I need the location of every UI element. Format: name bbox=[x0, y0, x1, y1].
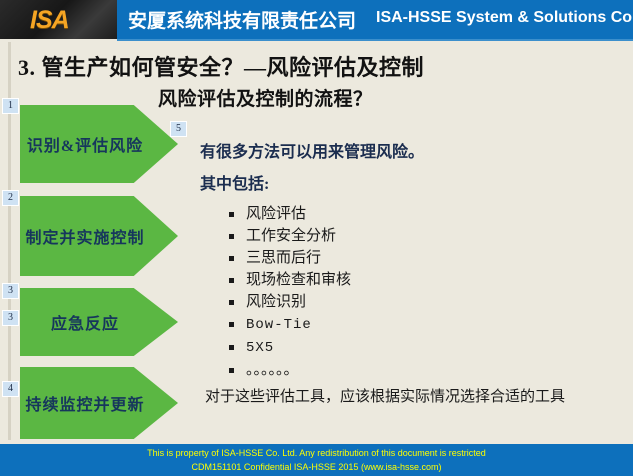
list-item: Bow-Tie bbox=[228, 315, 351, 335]
square-bullet-icon bbox=[229, 322, 234, 327]
process-step-4-label: 持续监控并更新 bbox=[25, 391, 144, 415]
isa-logo-text: ISA bbox=[30, 6, 69, 35]
header-title-english: ISA-HSSE System & Solutions Co. LTD bbox=[376, 9, 633, 27]
footer-copyright-line: This is property of ISA-HSSE Co. Ltd. An… bbox=[0, 448, 633, 458]
footer-confidential-line: CDM151101 Confidential ISA-HSSE 2015 (ww… bbox=[0, 462, 633, 472]
list-item-label: Bow-Tie bbox=[246, 317, 312, 333]
list-item: 。。。。。。 bbox=[228, 361, 351, 380]
list-item: 三思而后行 bbox=[228, 249, 351, 268]
process-step-2-label: 制定并实施控制 bbox=[25, 224, 144, 248]
list-item: 风险识别 bbox=[228, 293, 351, 312]
header-title-chinese: 安厦系统科技有限责任公司 bbox=[128, 6, 356, 33]
list-item-label: 。。。。。。 bbox=[246, 362, 299, 378]
placeholder-marker-3[interactable]: 3 bbox=[2, 283, 19, 299]
placeholder-marker-5[interactable]: 5 bbox=[170, 121, 187, 137]
list-item: 工作安全分析 bbox=[228, 227, 351, 246]
square-bullet-icon bbox=[229, 212, 234, 217]
body-intro-line: 有很多方法可以用来管理风险。 bbox=[200, 138, 424, 162]
list-item: 现场检查和审核 bbox=[228, 271, 351, 290]
process-step-3-label: 应急反应 bbox=[51, 310, 119, 334]
placeholder-marker-4[interactable]: 4 bbox=[2, 381, 19, 397]
closing-paragraph: 对于这些评估工具，应该根据实际情况选择合适的工具 bbox=[205, 386, 629, 408]
page-subtitle: 风险评估及控制的流程？ bbox=[158, 84, 373, 111]
placeholder-marker-2[interactable]: 2 bbox=[2, 190, 19, 206]
list-item-label: 5X5 bbox=[246, 340, 274, 356]
process-step-3[interactable]: 应急反应 bbox=[20, 288, 178, 356]
page-title: 3. 管生产如何管安全？—风险评估及控制 bbox=[18, 50, 424, 82]
process-step-2[interactable]: 制定并实施控制 bbox=[20, 196, 178, 276]
square-bullet-icon bbox=[229, 278, 234, 283]
slide-footer: This is property of ISA-HSSE Co. Ltd. An… bbox=[0, 444, 633, 476]
placeholder-marker-1[interactable]: 1 bbox=[2, 98, 19, 114]
square-bullet-icon bbox=[229, 234, 234, 239]
process-step-1-label: 识别&评估风险 bbox=[27, 132, 143, 156]
body-includes-label: 其中包括: bbox=[200, 170, 269, 194]
company-logo: ISA bbox=[0, 0, 117, 39]
list-item: 5X5 bbox=[228, 338, 351, 358]
process-step-4[interactable]: 持续监控并更新 bbox=[20, 367, 178, 439]
list-item-label: 三思而后行 bbox=[246, 250, 321, 266]
list-item-label: 现场检查和审核 bbox=[246, 272, 351, 288]
list-item-label: 工作安全分析 bbox=[246, 228, 336, 244]
method-bullet-list: 风险评估 工作安全分析 三思而后行 现场检查和审核 风险识别 Bow-Tie 5… bbox=[228, 205, 351, 383]
process-step-1[interactable]: 识别&评估风险 bbox=[20, 105, 178, 183]
square-bullet-icon bbox=[229, 368, 234, 373]
list-item-label: 风险识别 bbox=[246, 294, 306, 310]
placeholder-marker-3b[interactable]: 3 bbox=[2, 310, 19, 326]
square-bullet-icon bbox=[229, 345, 234, 350]
slide-canvas: ISA 安厦系统科技有限责任公司 ISA-HSSE System & Solut… bbox=[0, 0, 633, 476]
list-item-label: 风险评估 bbox=[246, 206, 306, 222]
square-bullet-icon bbox=[229, 256, 234, 261]
square-bullet-icon bbox=[229, 300, 234, 305]
header-accent-line bbox=[117, 39, 633, 41]
list-item: 风险评估 bbox=[228, 205, 351, 224]
slide-header: ISA 安厦系统科技有限责任公司 ISA-HSSE System & Solut… bbox=[0, 0, 633, 39]
